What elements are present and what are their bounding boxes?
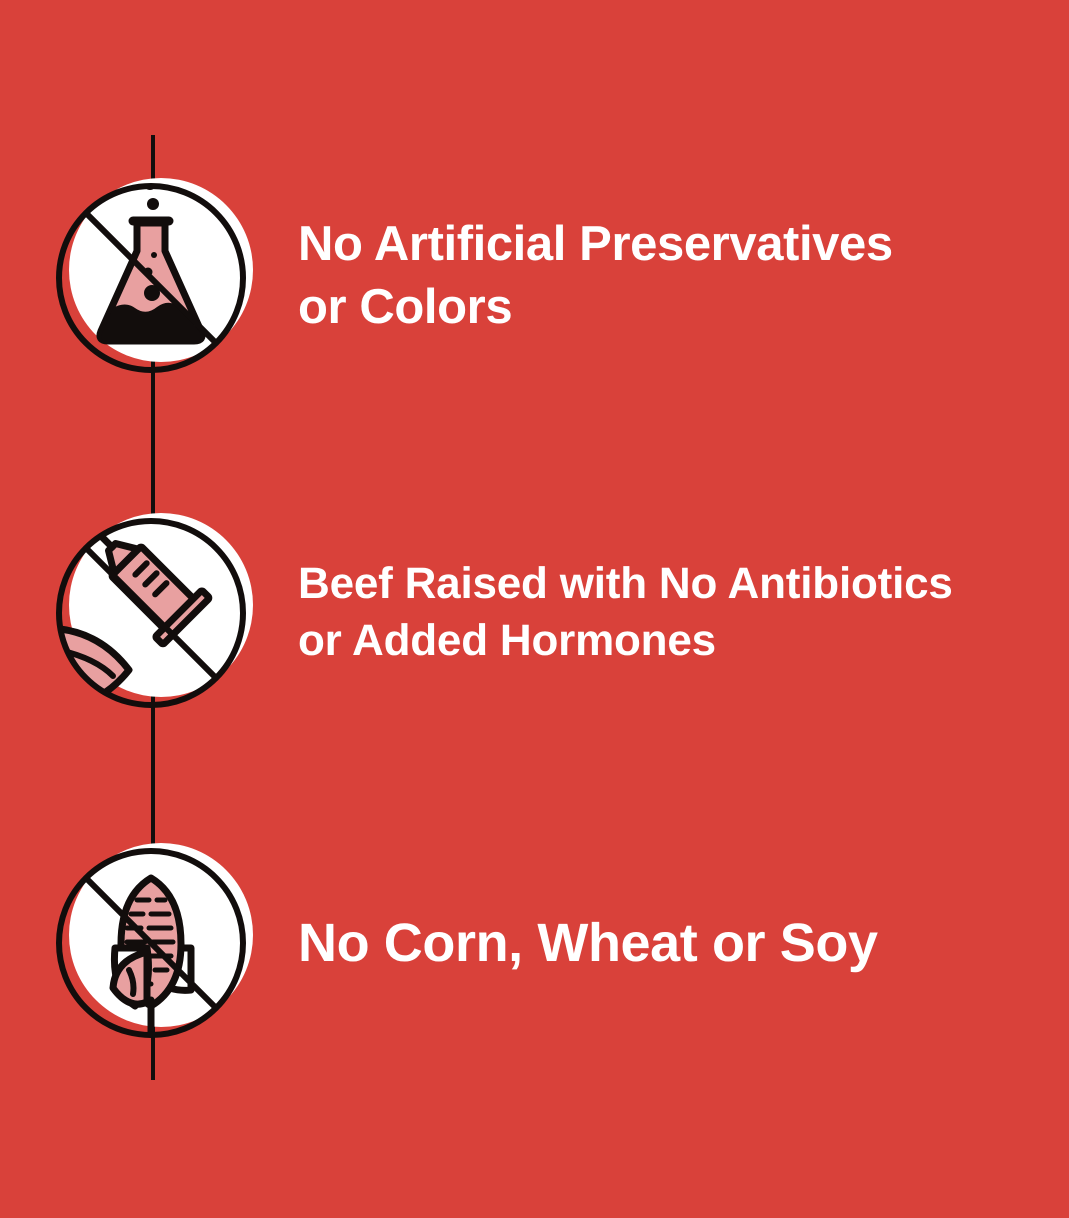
benefit-caption-antibiotics: Beef Raised with No Antibiotics or Added… [298,556,953,669]
benefit-caption-grains: No Corn, Wheat or Soy [298,909,878,978]
caption-line: or Added Hormones [298,613,953,669]
no-corn-grain-icon [51,840,256,1045]
benefit-row-grains: No Corn, Wheat or Soy [0,840,1069,1045]
caption-line: or Colors [298,276,893,339]
benefit-caption-preservatives: No Artificial Preservatives or Colors [298,213,893,338]
caption-line: Beef Raised with No Antibiotics [298,556,953,612]
no-syringe-beef-icon [51,510,256,715]
benefits-infographic: No Artificial Preservatives or Colors [0,0,1069,1218]
caption-line: No Corn, Wheat or Soy [298,909,878,978]
benefit-row-preservatives: No Artificial Preservatives or Colors [0,175,1069,380]
benefit-row-antibiotics: Beef Raised with No Antibiotics or Added… [0,510,1069,715]
caption-line: No Artificial Preservatives [298,213,893,276]
no-chemical-flask-icon [51,175,256,380]
